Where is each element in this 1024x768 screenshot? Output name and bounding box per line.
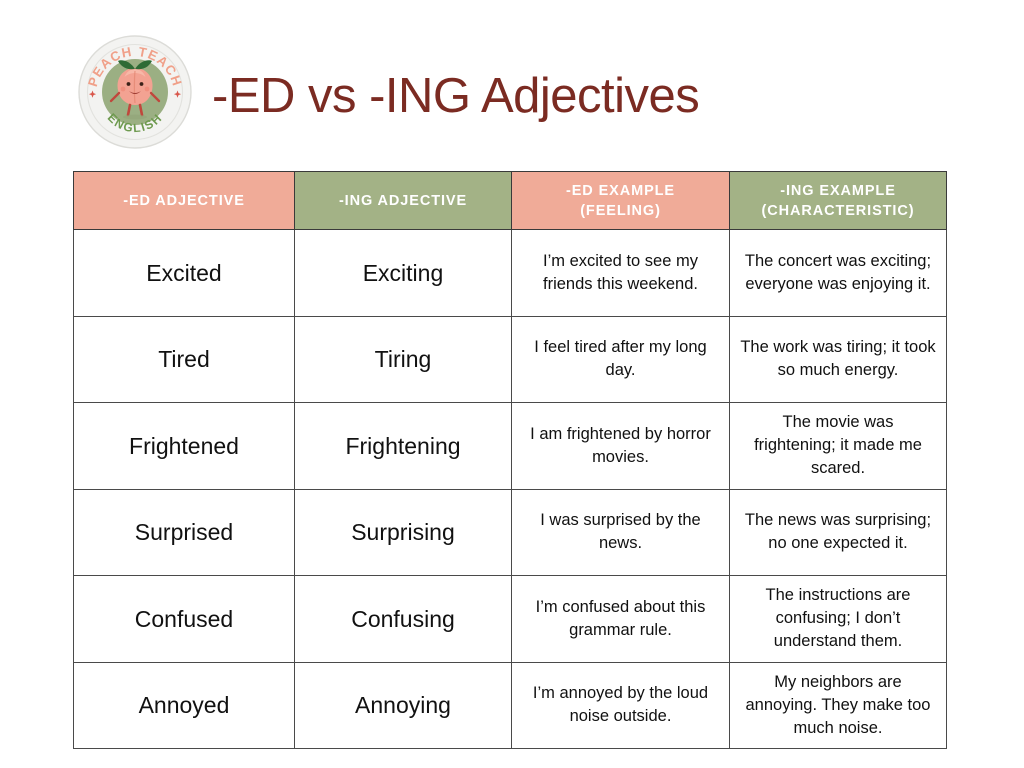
cell-ing-adjective: Exciting xyxy=(295,230,512,317)
column-header-ed-example-line1: -ED EXAMPLE xyxy=(566,183,675,199)
cell-ing-example: The instructions are confusing; I don’t … xyxy=(730,576,947,663)
table-row: Excited Exciting I’m excited to see my f… xyxy=(74,230,947,317)
table-row: Annoyed Annoying I’m annoyed by the loud… xyxy=(74,662,947,749)
column-header-ing-adjective: -ING ADJECTIVE xyxy=(295,172,512,230)
cell-ed-adjective: Surprised xyxy=(74,489,295,576)
ed-vs-ing-adjectives-table: -ED ADJECTIVE -ING ADJECTIVE -ED EXAMPLE… xyxy=(73,171,947,749)
cell-ing-adjective: Confusing xyxy=(295,576,512,663)
slide-canvas: PEACH TEACH ENGLISH -ED vs -ING Adjectiv… xyxy=(0,0,1024,768)
table-row: Frightened Frightening I am frightened b… xyxy=(74,403,947,490)
peach-teach-english-logo: PEACH TEACH ENGLISH xyxy=(78,35,192,149)
cell-ed-adjective: Tired xyxy=(74,316,295,403)
table-row: Surprised Surprising I was surprised by … xyxy=(74,489,947,576)
cell-ing-example: The concert was exciting; everyone was e… xyxy=(730,230,947,317)
column-header-ed-adjective: -ED ADJECTIVE xyxy=(74,172,295,230)
cell-ed-adjective: Excited xyxy=(74,230,295,317)
cell-ed-example: I was surprised by the news. xyxy=(512,489,730,576)
cell-ing-example: My neighbors are annoying. They make too… xyxy=(730,662,947,749)
cell-ed-example: I’m confused about this grammar rule. xyxy=(512,576,730,663)
table-row: Tired Tiring I feel tired after my long … xyxy=(74,316,947,403)
cell-ing-example: The movie was frightening; it made me sc… xyxy=(730,403,947,490)
cell-ed-adjective: Confused xyxy=(74,576,295,663)
column-header-ed-example-line2: (FEELING) xyxy=(580,203,661,219)
slide-header: PEACH TEACH ENGLISH -ED vs -ING Adjectiv… xyxy=(0,0,1024,160)
cell-ing-adjective: Surprising xyxy=(295,489,512,576)
cell-ed-example: I am frightened by horror movies. xyxy=(512,403,730,490)
page-title: -ED vs -ING Adjectives xyxy=(212,60,699,132)
column-header-ing-example-line2: (CHARACTERISTIC) xyxy=(762,203,915,219)
table-row: Confused Confusing I’m confused about th… xyxy=(74,576,947,663)
cell-ed-example: I’m excited to see my friends this weeke… xyxy=(512,230,730,317)
cell-ing-example: The work was tiring; it took so much ene… xyxy=(730,316,947,403)
cell-ing-example: The news was surprising; no one expected… xyxy=(730,489,947,576)
column-header-ing-example-line1: -ING EXAMPLE xyxy=(780,183,896,199)
cell-ing-adjective: Annoying xyxy=(295,662,512,749)
cell-ed-example: I feel tired after my long day. xyxy=(512,316,730,403)
cell-ed-adjective: Frightened xyxy=(74,403,295,490)
cell-ing-adjective: Frightening xyxy=(295,403,512,490)
cell-ing-adjective: Tiring xyxy=(295,316,512,403)
column-header-ing-example: -ING EXAMPLE (CHARACTERISTIC) xyxy=(730,172,947,230)
column-header-ed-example: -ED EXAMPLE (FEELING) xyxy=(512,172,730,230)
cell-ed-example: I’m annoyed by the loud noise outside. xyxy=(512,662,730,749)
cell-ed-adjective: Annoyed xyxy=(74,662,295,749)
table-header-row: -ED ADJECTIVE -ING ADJECTIVE -ED EXAMPLE… xyxy=(74,172,947,230)
